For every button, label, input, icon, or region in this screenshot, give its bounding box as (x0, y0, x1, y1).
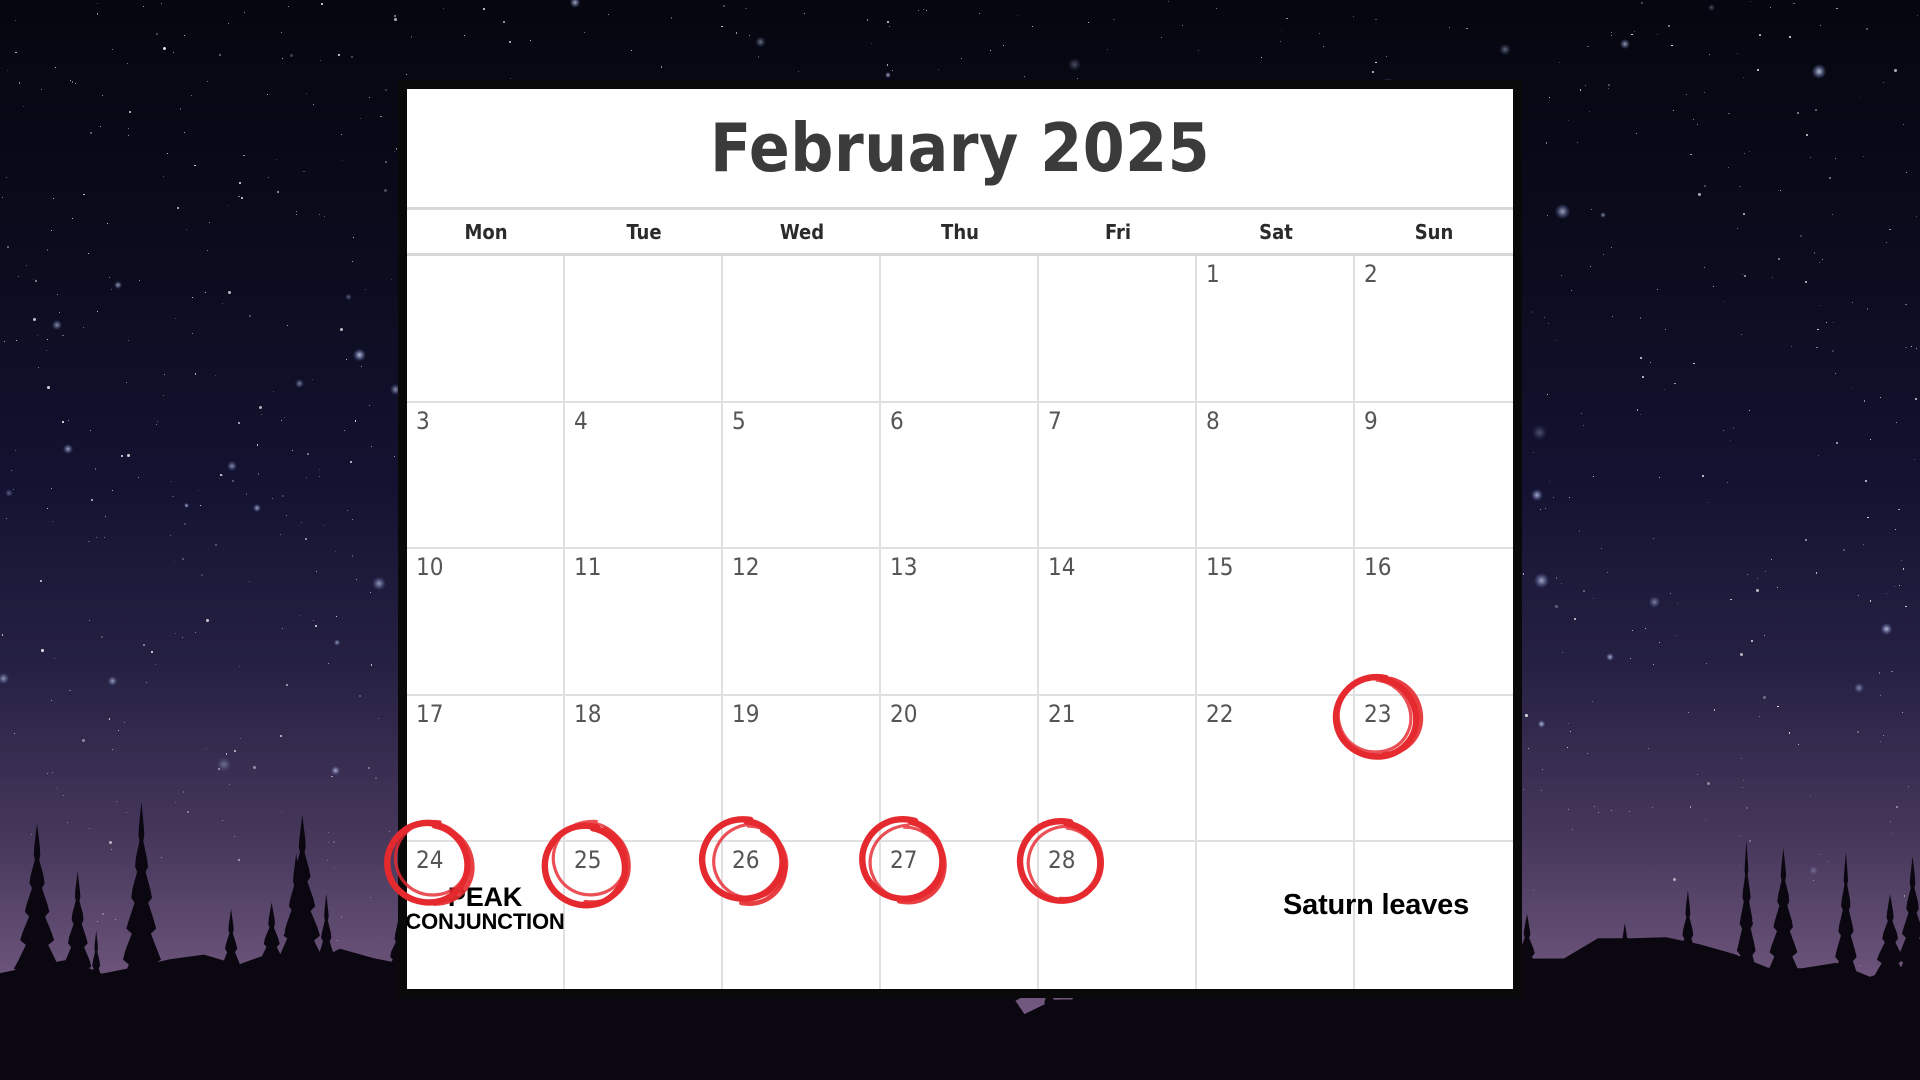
day-cell-10[interactable]: 10 (407, 549, 565, 696)
day-cell-5[interactable]: 5 (723, 403, 881, 550)
day-cell-empty[interactable] (881, 256, 1039, 403)
day-number: 6 (890, 408, 904, 434)
weekday-header-fri: Fri (1039, 210, 1197, 253)
day-cell-14[interactable]: 14 (1039, 549, 1197, 696)
day-cell-20[interactable]: 20 (881, 696, 1039, 843)
day-number: 28 (1048, 847, 1075, 873)
weekday-header-row: Mon Tue Wed Thu Fri Sat Sun (407, 210, 1513, 256)
day-cell-16[interactable]: 16 (1355, 549, 1513, 696)
day-number: 5 (732, 408, 746, 434)
day-number: 8 (1206, 408, 1220, 434)
day-cell-3[interactable]: 3 (407, 403, 565, 550)
day-cell-12[interactable]: 12 (723, 549, 881, 696)
day-number: 14 (1048, 554, 1075, 580)
day-number: 10 (416, 554, 443, 580)
day-cell-11[interactable]: 11 (565, 549, 723, 696)
day-cell-13[interactable]: 13 (881, 549, 1039, 696)
day-cell-23[interactable]: 23 (1355, 696, 1513, 843)
day-number: 3 (416, 408, 430, 434)
day-number: 24 (416, 847, 443, 873)
day-cell-empty[interactable]: Saturn leaves (1197, 842, 1355, 989)
day-cell-8[interactable]: 8 (1197, 403, 1355, 550)
day-number: 26 (732, 847, 759, 873)
day-number: 16 (1364, 554, 1391, 580)
day-cell-2[interactable]: 2 (1355, 256, 1513, 403)
day-number: 12 (732, 554, 759, 580)
day-number: 4 (574, 408, 588, 434)
day-cell-19[interactable]: 19 (723, 696, 881, 843)
day-cell-25[interactable]: 25 (565, 842, 723, 989)
day-cell-4[interactable]: 4 (565, 403, 723, 550)
day-cell-27[interactable]: 27 (881, 842, 1039, 989)
annotation-line-2: CONJUNCTION (405, 911, 564, 934)
day-number: 9 (1364, 408, 1378, 434)
day-number: 23 (1364, 701, 1391, 727)
day-number: 13 (890, 554, 917, 580)
day-cell-empty[interactable] (407, 256, 565, 403)
day-cell-9[interactable]: 9 (1355, 403, 1513, 550)
day-cell-28[interactable]: 28 (1039, 842, 1197, 989)
day-cell-22[interactable]: 22 (1197, 696, 1355, 843)
day-cell-24[interactable]: 24PEAKCONJUNCTION (407, 842, 565, 989)
day-cell-26[interactable]: 26 (723, 842, 881, 989)
weekday-header-thu: Thu (881, 210, 1039, 253)
day-number: 19 (732, 701, 759, 727)
day-number: 1 (1206, 261, 1220, 287)
day-number: 11 (574, 554, 601, 580)
day-cell-empty[interactable] (1039, 256, 1197, 403)
day-number: 15 (1206, 554, 1233, 580)
day-cell-6[interactable]: 6 (881, 403, 1039, 550)
weekday-header-sat: Sat (1197, 210, 1355, 253)
annotation-saturn-leaves: Saturn leaves (1283, 889, 1469, 922)
day-cell-21[interactable]: 21 (1039, 696, 1197, 843)
day-cell-15[interactable]: 15 (1197, 549, 1355, 696)
day-cell-18[interactable]: 18 (565, 696, 723, 843)
annotation-peak-conjunction: PEAKCONJUNCTION (405, 883, 564, 934)
calendar-card: February 2025 Mon Tue Wed Thu Fri Sat Su… (398, 80, 1522, 998)
calendar-grid: 123456789101112131415161718192021222324P… (407, 256, 1513, 989)
weekday-header-mon: Mon (407, 210, 565, 253)
day-cell-17[interactable]: 17 (407, 696, 565, 843)
day-number: 20 (890, 701, 917, 727)
day-number: 7 (1048, 408, 1062, 434)
day-number: 17 (416, 701, 443, 727)
annotation-line-1: PEAK (405, 883, 564, 911)
day-cell-7[interactable]: 7 (1039, 403, 1197, 550)
page-title: February 2025 (407, 89, 1513, 210)
day-number: 2 (1364, 261, 1378, 287)
day-cell-1[interactable]: 1 (1197, 256, 1355, 403)
day-cell-empty[interactable] (565, 256, 723, 403)
day-cell-empty[interactable] (723, 256, 881, 403)
day-number: 18 (574, 701, 601, 727)
day-number: 21 (1048, 701, 1075, 727)
weekday-header-tue: Tue (565, 210, 723, 253)
weekday-header-wed: Wed (723, 210, 881, 253)
day-number: 22 (1206, 701, 1233, 727)
day-number: 25 (574, 847, 601, 873)
weekday-header-sun: Sun (1355, 210, 1513, 253)
day-number: 27 (890, 847, 917, 873)
